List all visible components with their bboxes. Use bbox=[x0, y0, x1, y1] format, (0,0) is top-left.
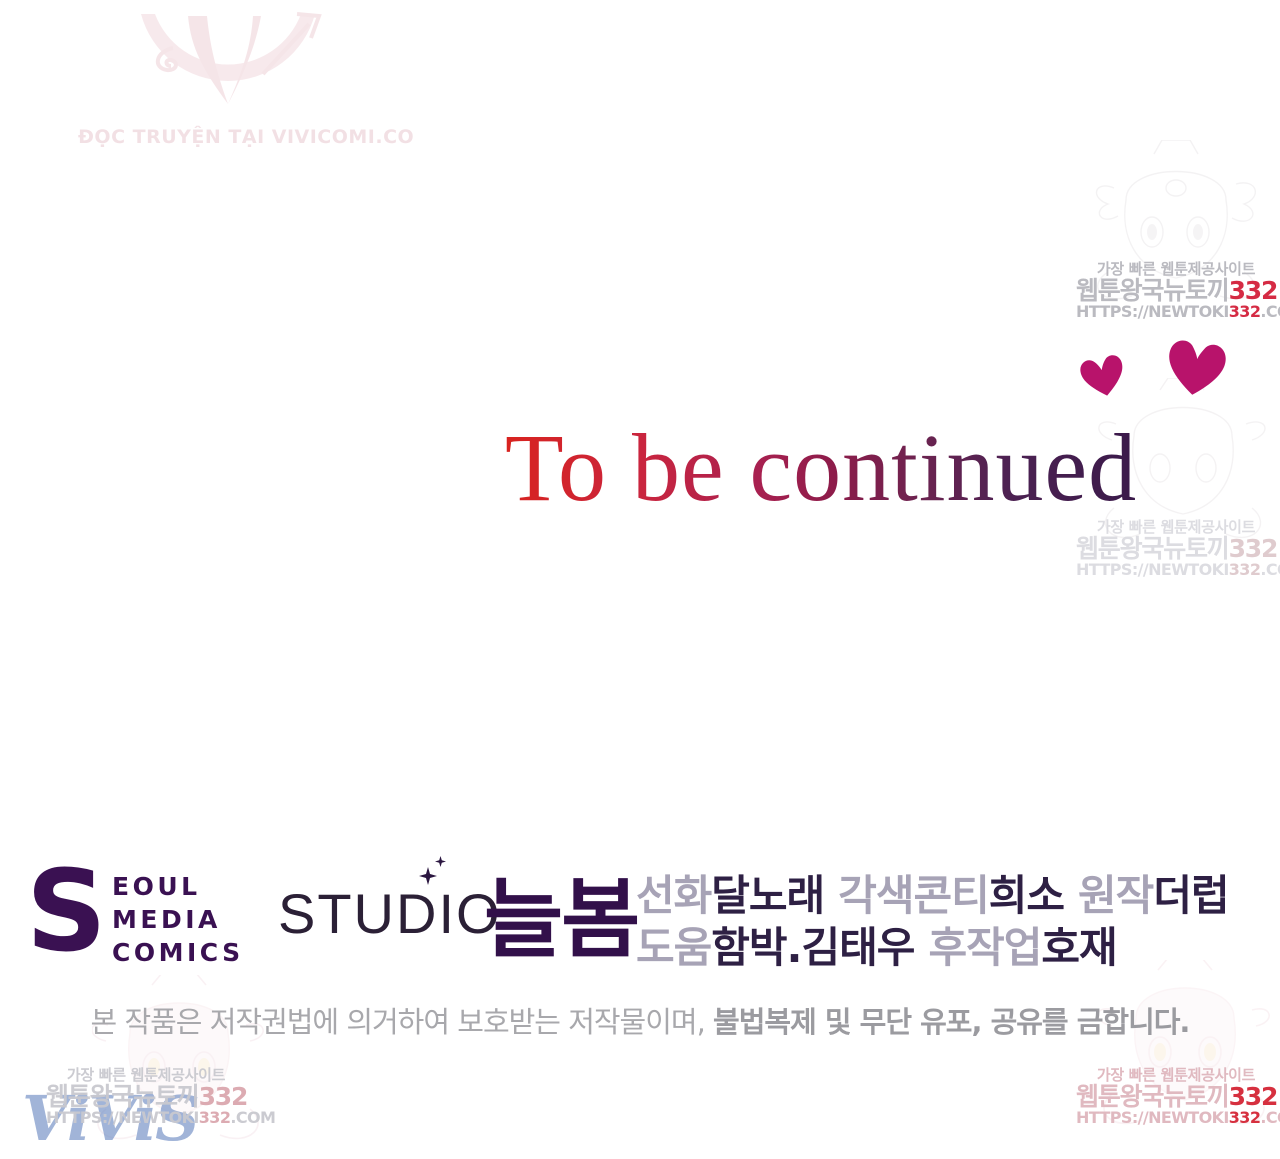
staff-role: 도움 bbox=[636, 923, 711, 972]
newtoki-watermark-line3: HTTPS://NEWTOKI332.COM bbox=[1076, 1110, 1276, 1126]
newtoki-watermark-line3: HTTPS://NEWTOKI332.COM bbox=[46, 1110, 246, 1126]
smc-word-line1: EOUL bbox=[112, 870, 244, 903]
studio-wordmark: STUDIO bbox=[278, 881, 502, 946]
staff-role: 원작 bbox=[1078, 871, 1153, 920]
smc-initial-letter: S bbox=[26, 856, 107, 968]
staff-role: 선화 bbox=[636, 871, 711, 920]
newtoki-watermark-top: 가장 빠른 웹툰제공사이트 웹툰왕국뉴토끼332 HTTPS://NEWTOKI… bbox=[1076, 262, 1276, 320]
newtoki-watermark-line1: 가장 빠른 웹툰제공사이트 bbox=[1076, 1068, 1276, 1083]
newtoki-watermark-line2: 웹툰왕국뉴토끼332 bbox=[1076, 278, 1276, 303]
staff-name: 더럽 bbox=[1153, 871, 1228, 920]
vivicomi-watermark-text: ĐỌC TRUYỆN TẠI VIVICOMI.CO bbox=[78, 126, 378, 148]
copyright-notice: 본 작품은 저작권법에 의거하여 보호받는 저작물이며, 불법복제 및 무단 유… bbox=[0, 999, 1280, 1041]
staff-role: 후작업 bbox=[928, 923, 1041, 972]
smc-word-line2: MEDIA bbox=[112, 903, 244, 936]
newtoki-watermark-line2: 웹툰왕국뉴토끼332 bbox=[1076, 1084, 1276, 1109]
newtoki-watermark-line1: 가장 빠른 웹툰제공사이트 bbox=[1076, 262, 1276, 277]
newtoki-watermark-line3: HTTPS://NEWTOKI332.COM bbox=[1076, 562, 1276, 578]
newtoki-watermark-line3: HTTPS://NEWTOKI332.COM bbox=[1076, 304, 1276, 320]
sparkle-icon bbox=[435, 856, 446, 867]
staff-name: 희소 bbox=[989, 871, 1064, 920]
staff-credits-row: 선화달노래각색콘티희소원작더럽 bbox=[636, 870, 1229, 922]
staff-name: 달노래 bbox=[711, 871, 824, 920]
copyright-text-normal: 본 작품은 저작권법에 의거하여 보호받는 저작물이며, bbox=[91, 1005, 714, 1039]
copyright-text-bold: 불법복제 및 무단 유포, 공유를 금합니다. bbox=[713, 1005, 1189, 1039]
newtoki-watermark-line2: 웹툰왕국뉴토끼332 bbox=[1076, 536, 1276, 561]
studio-name-korean: 늘봄 bbox=[484, 868, 638, 972]
staff-name: 함박.김태우 bbox=[711, 923, 914, 972]
heart-icon bbox=[1161, 336, 1230, 400]
newtoki-watermark-bottom-right: 가장 빠른 웹툰제공사이트 웹툰왕국뉴토끼332 HTTPS://NEWTOKI… bbox=[1076, 1068, 1276, 1126]
to-be-continued-text: To be continued bbox=[505, 412, 1137, 523]
smc-wordmark: EOUL MEDIA COMICS bbox=[112, 870, 244, 969]
sparkle-icon bbox=[419, 867, 437, 885]
staff-role: 각색콘티 bbox=[838, 871, 989, 920]
webtoon-end-card: ĐỌC TRUYỆN TẠI VIVICOMI.CO bbox=[0, 0, 1280, 1159]
staff-name: 호재 bbox=[1041, 923, 1116, 972]
staff-credits-row: 도움함박.김태우후작업호재 bbox=[636, 922, 1229, 974]
newtoki-watermark-middle: 가장 빠른 웹툰제공사이트 웹툰왕국뉴토끼332 HTTPS://NEWTOKI… bbox=[1076, 520, 1276, 578]
devil-logo-icon bbox=[133, 8, 323, 118]
credits-block: S EOUL MEDIA COMICS STUDIO 늘봄 선화달노래각색콘티희… bbox=[0, 848, 1280, 998]
newtoki-watermark-line2: 웹툰왕국뉴토끼332 bbox=[46, 1084, 246, 1109]
seoul-media-comics-logo: S EOUL MEDIA COMICS bbox=[26, 864, 266, 974]
smc-word-line3: COMICS bbox=[112, 936, 244, 969]
vivicomi-watermark: ĐỌC TRUYỆN TẠI VIVICOMI.CO bbox=[78, 8, 378, 158]
staff-credits: 선화달노래각색콘티희소원작더럽 도움함박.김태우후작업호재 bbox=[636, 870, 1229, 974]
newtoki-watermark-line1: 가장 빠른 웹툰제공사이트 bbox=[46, 1068, 246, 1083]
newtoki-watermark-bottom-left: 가장 빠른 웹툰제공사이트 웹툰왕국뉴토끼332 HTTPS://NEWTOKI… bbox=[46, 1068, 246, 1126]
